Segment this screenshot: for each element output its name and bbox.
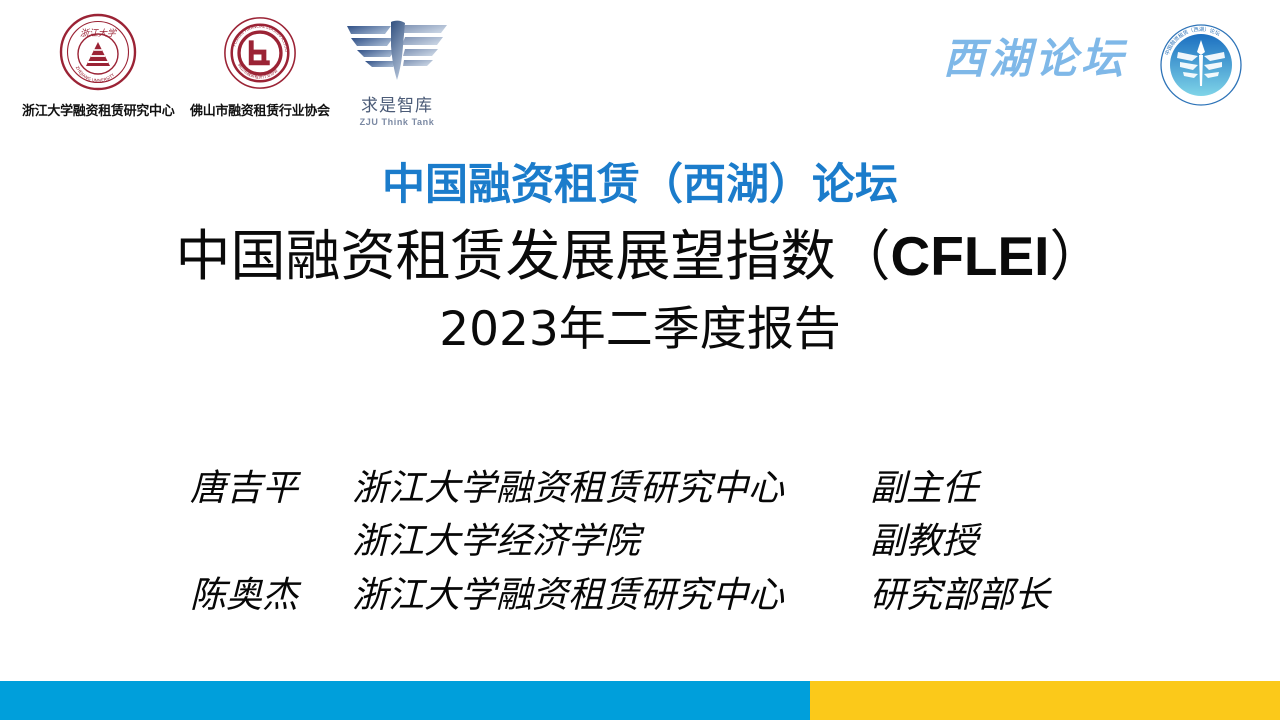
author-title: 研究部部长: [860, 569, 1090, 622]
xihu-forum-seal-icon: 中国融资租赁（西湖）论坛: [1158, 22, 1244, 113]
header-logo-strip: 浙江大学 ZHEJIANG UNIVERSITY 浙江大学融资租赁研究中心: [0, 0, 1280, 130]
author-title: 副教授: [860, 515, 1090, 568]
author-name: 陈奥杰: [190, 569, 340, 622]
logo-caption-zju-center: 浙江大学融资租赁研究中心: [22, 100, 174, 119]
main-title: 中国融资租赁发展展望指数（CFLEI）: [0, 223, 1280, 290]
main-title-prefix: 中国融资租赁发展展望指数（: [176, 224, 891, 288]
foshan-seal-icon: FOSHAN FINANCIAL LEASING ASSOCIATION 佛山市…: [221, 14, 299, 97]
title-area: 中国融资租赁（西湖）论坛 中国融资租赁发展展望指数（CFLEI） 2023年二季…: [0, 162, 1280, 359]
author-row: 浙江大学经济学院 副教授: [190, 515, 1090, 568]
footer-segment-yellow: [810, 681, 1280, 720]
xihu-forum-text: 西湖论坛: [943, 34, 1128, 83]
author-row: 陈奥杰 浙江大学融资租赁研究中心 研究部部长: [190, 569, 1090, 622]
author-row: 唐吉平 浙江大学融资租赁研究中心 副主任: [190, 462, 1090, 515]
logo-zju-think-tank: 求是智库 ZJU Think Tank: [345, 16, 449, 127]
logo-caption-think-tank-cn: 求是智库: [361, 91, 433, 116]
author-title: 副主任: [860, 462, 1090, 515]
footer-segment-blue: [0, 681, 810, 720]
brush-calligraphy-wordmark: 西湖论坛: [935, 30, 1135, 91]
author-name: [190, 515, 340, 568]
logo-xihu-forum-seal: 中国融资租赁（西湖）论坛: [1158, 22, 1244, 113]
logo-foshan-leasing-association: FOSHAN FINANCIAL LEASING ASSOCIATION 佛山市…: [190, 14, 330, 119]
forum-title: 中国融资租赁（西湖）论坛: [0, 162, 1280, 209]
author-org: 浙江大学融资租赁研究中心: [340, 569, 860, 622]
logo-xihu-forum-wordmark: 西湖论坛: [935, 30, 1135, 91]
logo-caption-foshan-assoc: 佛山市融资租赁行业协会: [190, 100, 330, 119]
footer-accent-bar: [0, 681, 1280, 720]
zju-seal-icon: 浙江大学 ZHEJIANG UNIVERSITY: [58, 12, 138, 97]
eagle-wing-icon: [345, 16, 449, 93]
presentation-title-slide: 浙江大学 ZHEJIANG UNIVERSITY 浙江大学融资租赁研究中心: [0, 0, 1280, 720]
logo-caption-think-tank-en: ZJU Think Tank: [360, 117, 435, 127]
author-name: 唐吉平: [190, 462, 340, 515]
logo-zju-leasing-research-center: 浙江大学 ZHEJIANG UNIVERSITY 浙江大学融资租赁研究中心: [22, 12, 174, 119]
report-period-subtitle: 2023年二季度报告: [0, 302, 1280, 358]
main-title-suffix: ）: [1049, 224, 1104, 288]
svg-text:浙江大学: 浙江大学: [80, 28, 117, 39]
main-title-acronym: CFLEI: [891, 225, 1050, 287]
author-org: 浙江大学融资租赁研究中心: [340, 462, 860, 515]
author-org: 浙江大学经济学院: [340, 515, 860, 568]
author-list: 唐吉平 浙江大学融资租赁研究中心 副主任 浙江大学经济学院 副教授 陈奥杰 浙江…: [0, 462, 1280, 622]
